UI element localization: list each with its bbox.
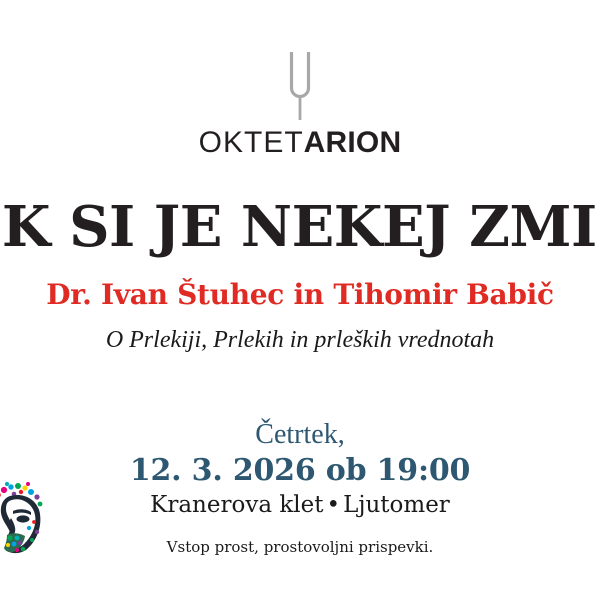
event-venue: Kranerova klet•Ljutomer	[0, 491, 600, 520]
venue-city: Ljutomer	[343, 492, 450, 518]
logo-word-oktet: OKTET	[199, 126, 304, 159]
logo-wordmark: OKTETARION	[0, 126, 600, 160]
entry-note: Vstop prost, prostovoljni prispevki.	[0, 537, 600, 557]
tuning-fork-icon	[277, 50, 323, 122]
event-datetime: 12. 3. 2026 ob 19:00	[0, 453, 600, 489]
title-row: PRLEK SI JE NEKEJ ZMISLAU	[0, 196, 600, 260]
logo-word-arion: ARION	[304, 126, 402, 159]
logo-block: OKTETARION	[0, 50, 600, 160]
event-weekday: Četrtek,	[0, 418, 600, 452]
speakers-line: Dr. Ivan Štuhec in Tihomir Babič	[0, 278, 600, 312]
bullet-separator-icon: •	[324, 492, 344, 518]
event-details: Četrtek, 12. 3. 2026 ob 19:00 Kranerova …	[0, 418, 600, 520]
event-poster: OKTETARION PRLEK SI JE NEKEJ ZMISLAU Dr.…	[0, 0, 600, 600]
multicolor-portrait-icon	[0, 480, 58, 558]
topic-subtitle: O Prlekiji, Prlekih in prleških vrednota…	[0, 325, 600, 355]
portrait-mark	[0, 480, 58, 558]
page-title: PRLEK SI JE NEKEJ ZMISLAU	[0, 196, 600, 258]
venue-name: Kranerova klet	[150, 492, 323, 518]
